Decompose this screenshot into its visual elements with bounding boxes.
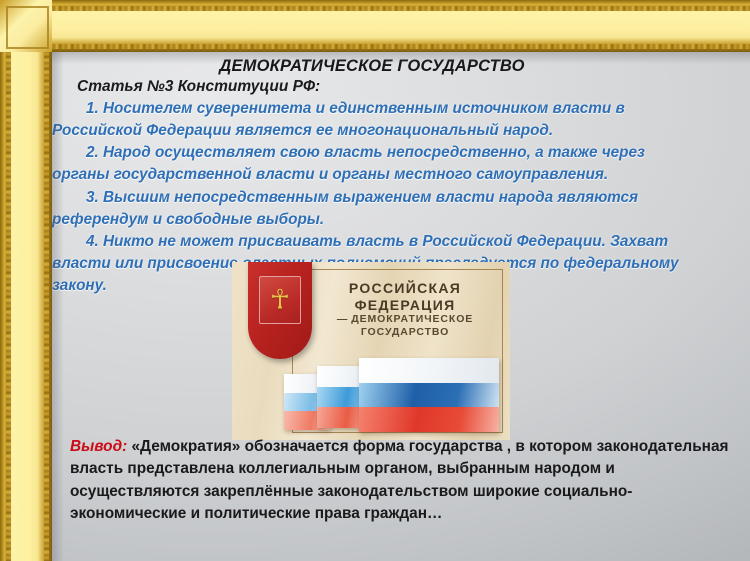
- conclusion-lead-label: Вывод:: [70, 438, 127, 455]
- slide-content: ДЕМОКРАТИЧЕСКОЕ ГОСУДАРСТВО Статья №3 Ко…: [52, 52, 750, 561]
- presentation-slide: ДЕМОКРАТИЧЕСКОЕ ГОСУДАРСТВО Статья №3 Ко…: [0, 0, 750, 561]
- poster-title-block: РОССИЙСКАЯ ФЕДЕРАЦИЯ —ДЕМОКРАТИЧЕСКОЕ ГО…: [310, 280, 500, 338]
- coat-of-arms-shield: ☥: [248, 262, 312, 359]
- poster-title-line3: —ДЕМОКРАТИЧЕСКОЕ: [310, 313, 500, 326]
- russian-tricolor-flags-icon: [284, 358, 499, 436]
- decorative-gold-frame-top: [0, 0, 750, 52]
- flag-band-white: [359, 358, 499, 383]
- em-dash-icon: —: [337, 313, 348, 325]
- poster-title-line4: ГОСУДАРСТВО: [310, 326, 500, 339]
- flag-band-blue: [359, 383, 499, 408]
- poster-title-line2: ФЕДЕРАЦИЯ: [310, 297, 500, 314]
- conclusion-body-text: «Демократия» обозначается форма государс…: [70, 438, 729, 522]
- clause-item: 1. Носителем суверенитета и единственным…: [52, 98, 697, 141]
- double-headed-eagle-icon: ☥: [270, 287, 290, 314]
- frame-shadow-horizontal: [0, 52, 750, 64]
- poster-title-line1: РОССИЙСКАЯ: [310, 280, 500, 297]
- flag-band-red: [359, 407, 499, 432]
- decorative-gold-frame-left: [0, 0, 52, 561]
- poster-subtitle-text: ДЕМОКРАТИЧЕСКОЕ: [351, 313, 473, 325]
- article-label: Статья №3 Конституции РФ:: [77, 78, 320, 96]
- conclusion-block: Вывод: «Демократия» обозначается форма г…: [70, 436, 745, 525]
- clause-item: 2. Народ осуществляет свою власть непоср…: [52, 142, 697, 185]
- decorative-gold-frame-corner: [0, 0, 52, 52]
- conclusion-paragraph: Вывод: «Демократия» обозначается форма г…: [70, 436, 745, 525]
- coat-of-arms-icon: ☥: [259, 276, 301, 324]
- clause-item: 3. Высшим непосредственным выражением вл…: [52, 187, 697, 230]
- flag-front-main: [359, 358, 499, 432]
- russian-federation-poster-image: ☥ РОССИЙСКАЯ ФЕДЕРАЦИЯ —ДЕМОКРАТИЧЕСКОЕ …: [232, 262, 510, 440]
- frame-shadow-vertical: [52, 0, 64, 561]
